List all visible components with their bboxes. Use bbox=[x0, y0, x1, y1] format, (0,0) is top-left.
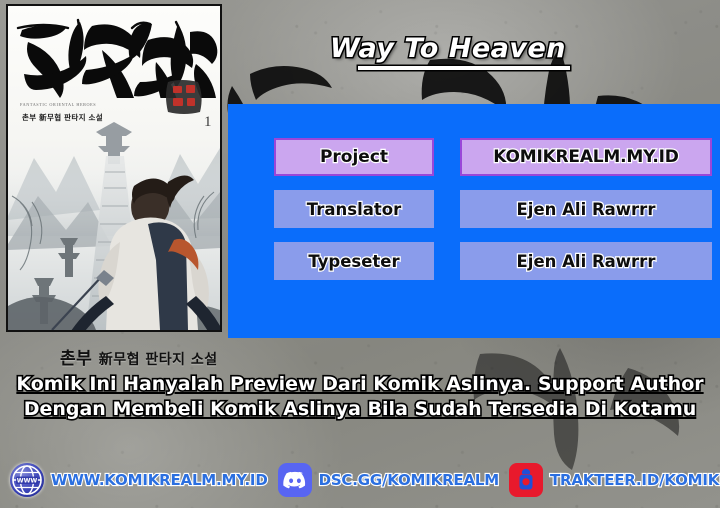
korean-strap-rest: 新무협 판타지 소설 bbox=[99, 352, 218, 368]
footer-link-trakteer-label: TRAKTEER.ID/KOMIKREALM bbox=[550, 471, 720, 489]
title-underline bbox=[358, 66, 570, 70]
disclaimer-line-1: Komik Ini Hanyalah Preview Dari Komik As… bbox=[0, 372, 720, 397]
credits-value-project: KOMIKREALM.MY.ID bbox=[460, 138, 712, 176]
book-cover: FANTASTIC ORIENTAL HEROES 촌부 新무협 판타지 소설 … bbox=[6, 4, 222, 332]
credits-label-text: Translator bbox=[307, 200, 401, 219]
table-row: Translator Ejen Ali Rawrrr bbox=[274, 190, 714, 228]
credits-label-typeseter: Typeseter bbox=[274, 242, 434, 280]
page-title: Way To Heaven bbox=[330, 33, 566, 64]
credits-label-text: Project bbox=[320, 147, 388, 167]
credits-value-text: Ejen Ali Rawrrr bbox=[517, 252, 656, 271]
footer-link-discord[interactable]: DSC.GG/KOMIKREALM bbox=[268, 460, 499, 500]
disclaimer-block: Komik Ini Hanyalah Preview Dari Komik As… bbox=[0, 372, 720, 422]
credits-value-translator: Ejen Ali Rawrrr bbox=[460, 190, 712, 228]
discord-icon bbox=[278, 463, 312, 497]
globe-www-icon: WWW bbox=[10, 463, 44, 497]
table-row: Typeseter Ejen Ali Rawrrr bbox=[274, 242, 714, 280]
svg-text:WWW: WWW bbox=[17, 477, 38, 484]
cover-red-seal bbox=[164, 76, 204, 116]
credits-value-typeseter: Ejen Ali Rawrrr bbox=[460, 242, 712, 280]
footer-link-discord-label: DSC.GG/KOMIKREALM bbox=[319, 471, 499, 489]
cover-subtitle-korean: 촌부 新무협 판타지 소설 bbox=[22, 112, 172, 123]
korean-strap-bold: 촌부 bbox=[60, 349, 92, 369]
cover-volume-number: 1 bbox=[204, 114, 212, 131]
credits-label-project: Project bbox=[274, 138, 434, 176]
credits-table: Project KOMIKREALM.MY.ID Translator Ejen… bbox=[274, 138, 714, 294]
credits-label-text: Typeseter bbox=[308, 252, 399, 271]
credits-value-text: KOMIKREALM.MY.ID bbox=[493, 147, 678, 167]
footer-link-website[interactable]: WWW WWW.KOMIKREALM.MY.ID bbox=[0, 460, 268, 500]
credits-label-translator: Translator bbox=[274, 190, 434, 228]
footer-link-website-label: WWW.KOMIKREALM.MY.ID bbox=[51, 471, 268, 489]
footer-link-trakteer[interactable]: TRAKTEER.ID/KOMIKREALM bbox=[499, 460, 720, 500]
promo-credit-page: FANTASTIC ORIENTAL HEROES 촌부 新무협 판타지 소설 … bbox=[0, 0, 720, 508]
credits-panel: Project KOMIKREALM.MY.ID Translator Ejen… bbox=[228, 104, 720, 338]
footer-links: WWW WWW.KOMIKREALM.MY.ID DSC.GG/KOMIKREA… bbox=[0, 452, 720, 508]
trakteer-icon bbox=[509, 463, 543, 497]
disclaimer-line-2: Dengan Membeli Komik Aslinya Bila Sudah … bbox=[0, 397, 720, 422]
table-row: Project KOMIKREALM.MY.ID bbox=[274, 138, 714, 176]
credits-value-text: Ejen Ali Rawrrr bbox=[517, 200, 656, 219]
korean-strapline: 촌부 新무협 판타지 소설 bbox=[60, 344, 218, 369]
cover-subtitle-english: FANTASTIC ORIENTAL HEROES bbox=[20, 102, 140, 107]
